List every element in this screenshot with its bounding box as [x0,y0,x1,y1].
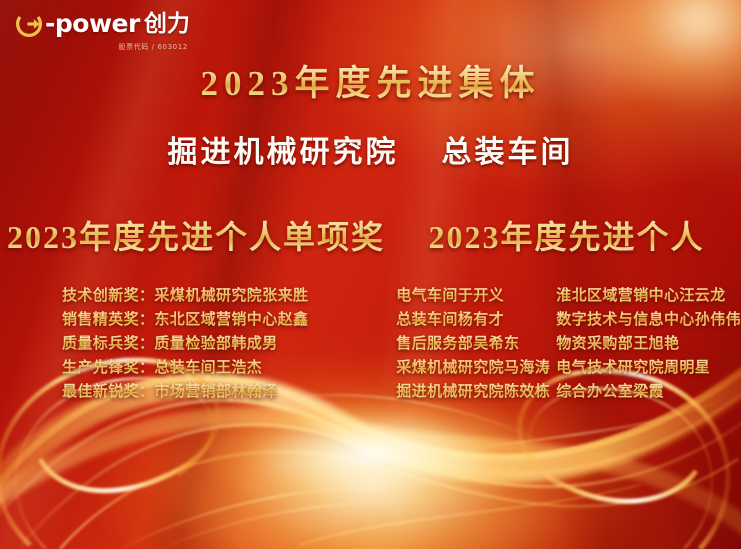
list-item: 生产先锋奖：总装车间王浩杰 [62,356,380,380]
c-power-circular-arrow-icon [16,11,42,37]
winner-name: 采煤机械研究院马海涛 [396,356,556,380]
winner-name: 总装车间杨有才 [396,308,556,332]
list-item: 销售精英奖：东北区域营销中心赵鑫 [62,308,380,332]
list-item: 电气车间于开义 淮北区域营销中心汪云龙 [396,284,741,308]
winner-name: 掘进机械研究院陈效栋 [396,380,556,404]
brand-wordmark-cn: 创力 [144,11,190,37]
list-item: 技术创新奖：采煤机械研究院张来胜 [62,284,380,308]
award-poster: -power 创力 股票代码 / 603012 2023年度先进集体 掘进机械研… [0,0,741,549]
winner-name: 物资采购部王旭艳 [556,332,741,356]
brand-logo[interactable]: -power 创力 股票代码 / 603012 [16,11,190,52]
list-item: 采煤机械研究院马海涛 电气技术研究院周明星 [396,356,741,380]
brand-wordmark: -power [45,11,140,37]
winner-name: 淮北区域营销中心汪云龙 [556,284,741,308]
list-item: 总装车间杨有才 数字技术与信息中心孙伟伟 [396,308,741,332]
winner-name: 综合办公室梁霞 [556,380,741,404]
single-award-list: 技术创新奖：采煤机械研究院张来胜 销售精英奖：东北区域营销中心赵鑫 质量标兵奖：… [0,284,380,404]
winner-name: 售后服务部吴希东 [396,332,556,356]
list-item: 最佳新锐奖：市场营销部林翰泽 [62,380,380,404]
winner-name: 数字技术与信息中心孙伟伟 [556,308,741,332]
collective-winners: 掘进机械研究院 总装车间 [0,133,741,173]
list-item: 质量标兵奖：质量检验部韩成男 [62,332,380,356]
collective-winner-2: 总装车间 [442,136,574,169]
collective-winner-1: 掘进机械研究院 [168,136,399,169]
page-title: 2023年度先进集体 [0,62,741,106]
brand-logo-row: -power 创力 [16,11,190,37]
list-item: 掘进机械研究院陈效栋 综合办公室梁霞 [396,380,741,404]
winner-name: 电气技术研究院周明星 [556,356,741,380]
list-item: 售后服务部吴希东 物资采购部王旭艳 [396,332,741,356]
advanced-individual-list: 电气车间于开义 淮北区域营销中心汪云龙 总装车间杨有才 数字技术与信息中心孙伟伟… [380,284,741,404]
section-heading-advanced-individuals: 2023年度先进个人 [392,216,741,258]
section-headings: 2023年度先进个人单项奖 2023年度先进个人 [0,216,741,258]
stock-code-label: 股票代码 / 603012 [118,42,187,52]
swirl-hotspot [207,399,533,509]
winner-name: 电气车间于开义 [396,284,556,308]
winner-lists: 技术创新奖：采煤机械研究院张来胜 销售精英奖：东北区域营销中心赵鑫 质量标兵奖：… [0,284,741,404]
section-heading-single-awards: 2023年度先进个人单项奖 [0,216,392,258]
